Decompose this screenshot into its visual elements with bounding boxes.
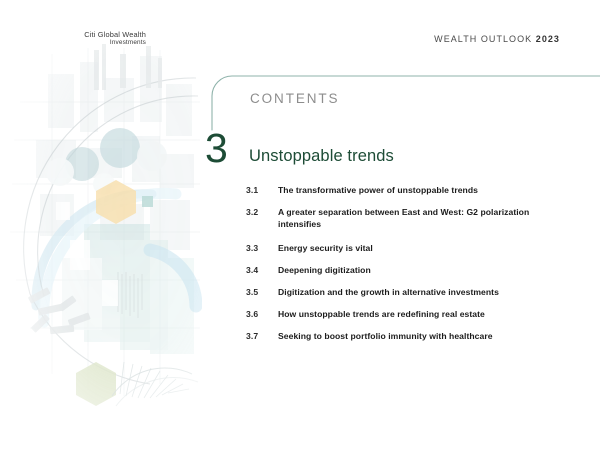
toc-title: Digitization and the growth in alternati… xyxy=(278,286,546,298)
chapter-number: 3 xyxy=(205,128,228,169)
toc-number: 3.4 xyxy=(246,264,278,276)
publication-title: WEALTH OUTLOOK xyxy=(434,34,532,44)
brand-subtitle: Investments xyxy=(36,39,146,47)
list-item[interactable]: 3.3 Energy security is vital xyxy=(246,242,566,254)
contents-label: CONTENTS xyxy=(250,91,339,106)
publication-year: 2023 xyxy=(536,34,560,44)
list-item[interactable]: 3.7 Seeking to boost portfolio immunity … xyxy=(246,330,566,342)
toc-number: 3.3 xyxy=(246,242,278,254)
toc-number: 3.6 xyxy=(246,308,278,320)
contents-page: Citi Global Wealth Investments WEALTH OU… xyxy=(0,0,600,463)
chapter-title: Unstoppable trends xyxy=(249,147,394,166)
toc-title: How unstoppable trends are redefining re… xyxy=(278,308,546,320)
publication-header: WEALTH OUTLOOK 2023 xyxy=(434,34,560,44)
brand-name: Citi Global Wealth xyxy=(36,30,146,39)
list-item[interactable]: 3.2 A greater separation between East an… xyxy=(246,206,566,230)
abstract-cityscape-illustration xyxy=(0,44,202,434)
toc-title: Deepening digitization xyxy=(278,264,546,276)
table-of-contents: 3.1 The transformative power of unstoppa… xyxy=(246,184,566,353)
toc-title: The transformative power of unstoppable … xyxy=(278,184,546,196)
toc-number: 3.1 xyxy=(246,184,278,196)
toc-title: A greater separation between East and We… xyxy=(278,206,546,230)
list-item[interactable]: 3.1 The transformative power of unstoppa… xyxy=(246,184,566,196)
toc-title: Seeking to boost portfolio immunity with… xyxy=(278,330,546,342)
toc-number: 3.7 xyxy=(246,330,278,342)
list-item[interactable]: 3.4 Deepening digitization xyxy=(246,264,566,276)
brand-logo: Citi Global Wealth Investments xyxy=(36,30,146,47)
toc-number: 3.2 xyxy=(246,206,278,218)
list-item[interactable]: 3.6 How unstoppable trends are redefinin… xyxy=(246,308,566,320)
list-item[interactable]: 3.5 Digitization and the growth in alter… xyxy=(246,286,566,298)
toc-number: 3.5 xyxy=(246,286,278,298)
toc-title: Energy security is vital xyxy=(278,242,546,254)
